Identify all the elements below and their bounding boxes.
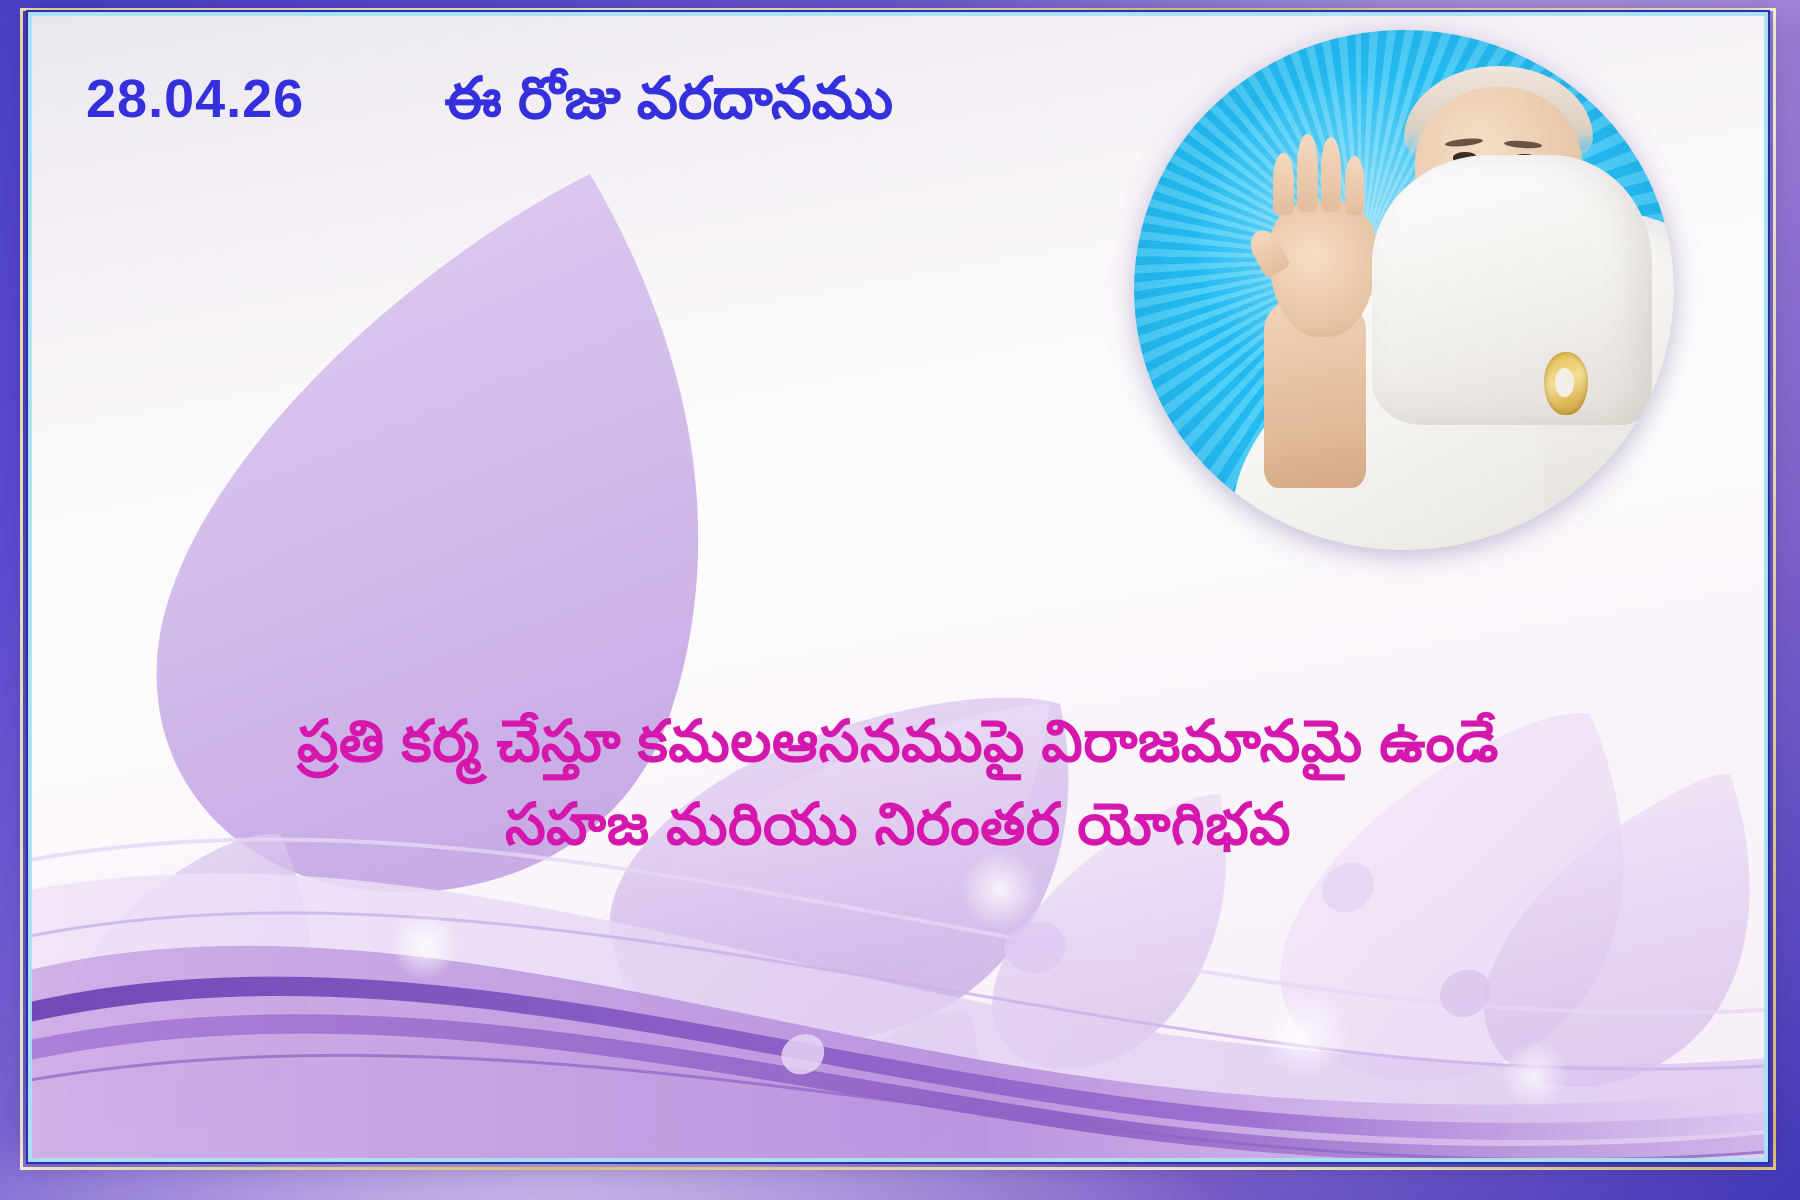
message-line-1: ప్రతి కర్మ చేస్తూ కమలఆసనముపై విరాజమానమై … — [30, 704, 1766, 781]
poster-header: 28.04.26 ఈ రోజు వరదానము — [30, 66, 1766, 133]
white-veil — [1372, 155, 1653, 425]
greeting-poster: 28.04.26 ఈ రోజు వరదానము — [0, 0, 1800, 1200]
finger — [1321, 137, 1342, 213]
finger — [1273, 153, 1294, 215]
finger — [1297, 134, 1318, 212]
finger — [1345, 156, 1364, 215]
message-line-2: సహజ మరియు నిరంతర యోగిభవ — [30, 787, 1766, 864]
page-title: ఈ రోజు వరదానము — [444, 66, 893, 133]
gold-badge-inner — [1555, 368, 1573, 397]
poster-card: 28.04.26 ఈ రోజు వరదానము — [30, 14, 1766, 1160]
date-label: 28.04.26 — [86, 68, 304, 130]
blessing-message: ప్రతి కర్మ చేస్తూ కమలఆసనముపై విరాజమానమై … — [30, 704, 1766, 863]
